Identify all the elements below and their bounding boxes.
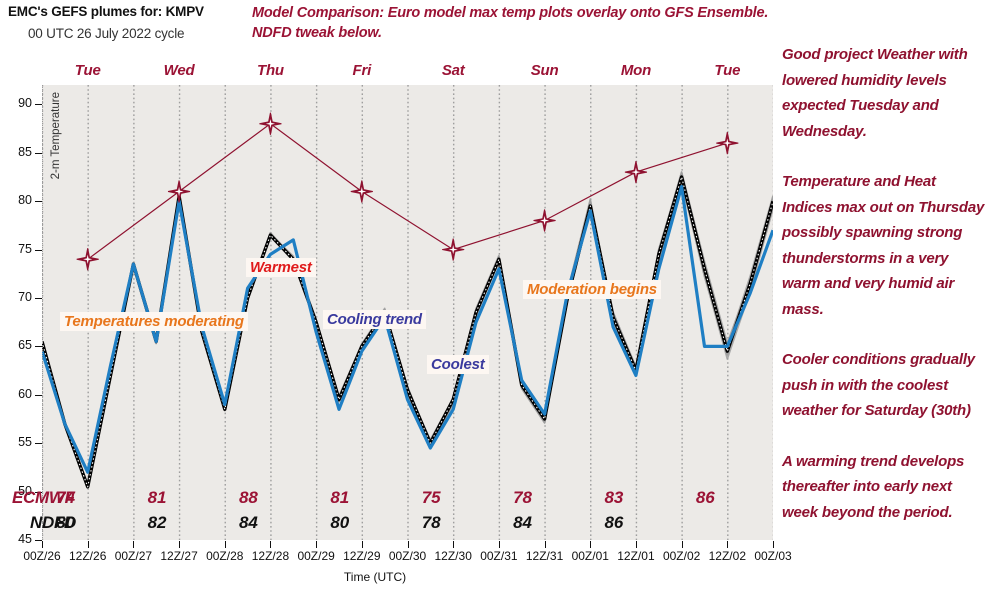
ndfd-value-2: 84 [239, 513, 258, 533]
x-tick-label: 12Z/31 [526, 549, 563, 563]
day-label-sun-5: Sun [531, 62, 559, 79]
x-tick-label: 00Z/26 [23, 549, 60, 563]
y-tick-mark [35, 201, 42, 202]
x-tick-mark [133, 541, 134, 548]
x-tick-label: 00Z/30 [389, 549, 426, 563]
ecmwf-value-7: 86 [696, 488, 715, 508]
ecmwf-value-0: 74 [56, 488, 75, 508]
x-tick-mark [545, 541, 546, 548]
forecast-discussion-panel: Good project Weather with lowered humidi… [782, 42, 987, 550]
x-tick-label: 00Z/31 [480, 549, 517, 563]
y-tick-mark [35, 250, 42, 251]
x-tick-label: 12Z/30 [435, 549, 472, 563]
x-tick-label: 12Z/28 [252, 549, 289, 563]
y-tick-label: 70 [2, 290, 32, 304]
callout-moderation-begins: Moderation begins [523, 280, 661, 299]
model-comparison-note-line1: Model Comparison: Euro model max temp pl… [252, 5, 768, 21]
x-tick-label: 12Z/01 [617, 549, 654, 563]
y-tick-label: 60 [2, 387, 32, 401]
callout-coolest: Coolest [427, 355, 489, 374]
model-comparison-note: Model Comparison: Euro model max temp pl… [252, 3, 772, 43]
x-tick-mark [727, 541, 728, 548]
page-title: EMC's GEFS plumes for: KMPV [8, 4, 204, 19]
x-tick-label: 12Z/02 [709, 549, 746, 563]
gefs-plume-chart-page: EMC's GEFS plumes for: KMPV 00 UTC 26 Ju… [0, 0, 989, 592]
y-tick-mark [35, 104, 42, 105]
x-tick-label: 00Z/03 [754, 549, 791, 563]
x-tick-mark [270, 541, 271, 548]
y-tick-label: 75 [2, 242, 32, 256]
x-tick-mark [362, 541, 363, 548]
callout-cooling-trend: Cooling trend [323, 310, 426, 329]
y-tick-mark [35, 153, 42, 154]
x-tick-mark [225, 541, 226, 548]
ndfd-value-1: 82 [148, 513, 167, 533]
forecast-note-1: Good project Weather with lowered humidi… [782, 42, 987, 144]
y-tick-label: 80 [2, 193, 32, 207]
callout-warmest: Warmest [246, 258, 316, 277]
x-tick-mark [408, 541, 409, 548]
day-label-tue-7: Tue [714, 62, 740, 79]
ecmwf-value-2: 88 [239, 488, 258, 508]
forecast-note-4: A warming trend develops thereafter into… [782, 449, 987, 526]
model-comparison-note-line2: NDFD tweak below. [252, 25, 382, 41]
x-tick-mark [499, 541, 500, 548]
day-label-mon-6: Mon [621, 62, 651, 79]
day-label-fri-3: Fri [353, 62, 372, 79]
ecmwf-value-1: 81 [148, 488, 167, 508]
y-tick-mark [35, 298, 42, 299]
x-tick-label: 00Z/27 [115, 549, 152, 563]
ndfd-value-4: 78 [422, 513, 441, 533]
y-tick-mark [35, 540, 42, 541]
y-axis-line [42, 85, 43, 540]
x-tick-mark [42, 541, 43, 548]
ecmwf-value-4: 75 [422, 488, 441, 508]
forecast-note-2: Temperature and Heat Indices max out on … [782, 169, 987, 322]
x-tick-label: 00Z/28 [206, 549, 243, 563]
ndfd-value-0: 80 [56, 513, 75, 533]
x-tick-mark [316, 541, 317, 548]
ecmwf-value-5: 78 [513, 488, 532, 508]
x-tick-label: 12Z/29 [343, 549, 380, 563]
forecast-note-3: Cooler conditions gradually push in with… [782, 347, 987, 424]
x-tick-mark [682, 541, 683, 548]
y-tick-label: 45 [2, 532, 32, 546]
ecmwf-value-6: 83 [604, 488, 623, 508]
x-tick-mark [453, 541, 454, 548]
ndfd-value-5: 84 [513, 513, 532, 533]
day-label-wed-1: Wed [164, 62, 195, 79]
x-tick-mark [88, 541, 89, 548]
x-tick-mark [179, 541, 180, 548]
y-axis-title: 2-m Temperature [50, 92, 62, 179]
x-tick-mark [590, 541, 591, 548]
x-tick-label: 12Z/26 [69, 549, 106, 563]
y-tick-mark [35, 346, 42, 347]
y-tick-label: 85 [2, 145, 32, 159]
day-label-thu-2: Thu [257, 62, 284, 79]
x-tick-mark [636, 541, 637, 548]
day-label-tue-0: Tue [75, 62, 101, 79]
y-tick-label: 65 [2, 338, 32, 352]
x-tick-label: 00Z/02 [663, 549, 700, 563]
x-tick-label: 00Z/01 [572, 549, 609, 563]
y-tick-label: 90 [2, 96, 32, 110]
cycle-subtitle: 00 UTC 26 July 2022 cycle [28, 26, 184, 41]
x-axis-title: Time (UTC) [344, 570, 406, 584]
y-tick-mark [35, 443, 42, 444]
ecmwf-value-3: 81 [330, 488, 349, 508]
ndfd-value-3: 80 [330, 513, 349, 533]
x-tick-label: 12Z/27 [160, 549, 197, 563]
callout-temperatures-moderating: Temperatures moderating [60, 312, 248, 331]
y-tick-mark [35, 395, 42, 396]
day-label-sat-4: Sat [442, 62, 465, 79]
y-tick-label: 55 [2, 435, 32, 449]
x-tick-mark [773, 541, 774, 548]
ndfd-value-6: 86 [604, 513, 623, 533]
x-tick-label: 00Z/29 [297, 549, 334, 563]
